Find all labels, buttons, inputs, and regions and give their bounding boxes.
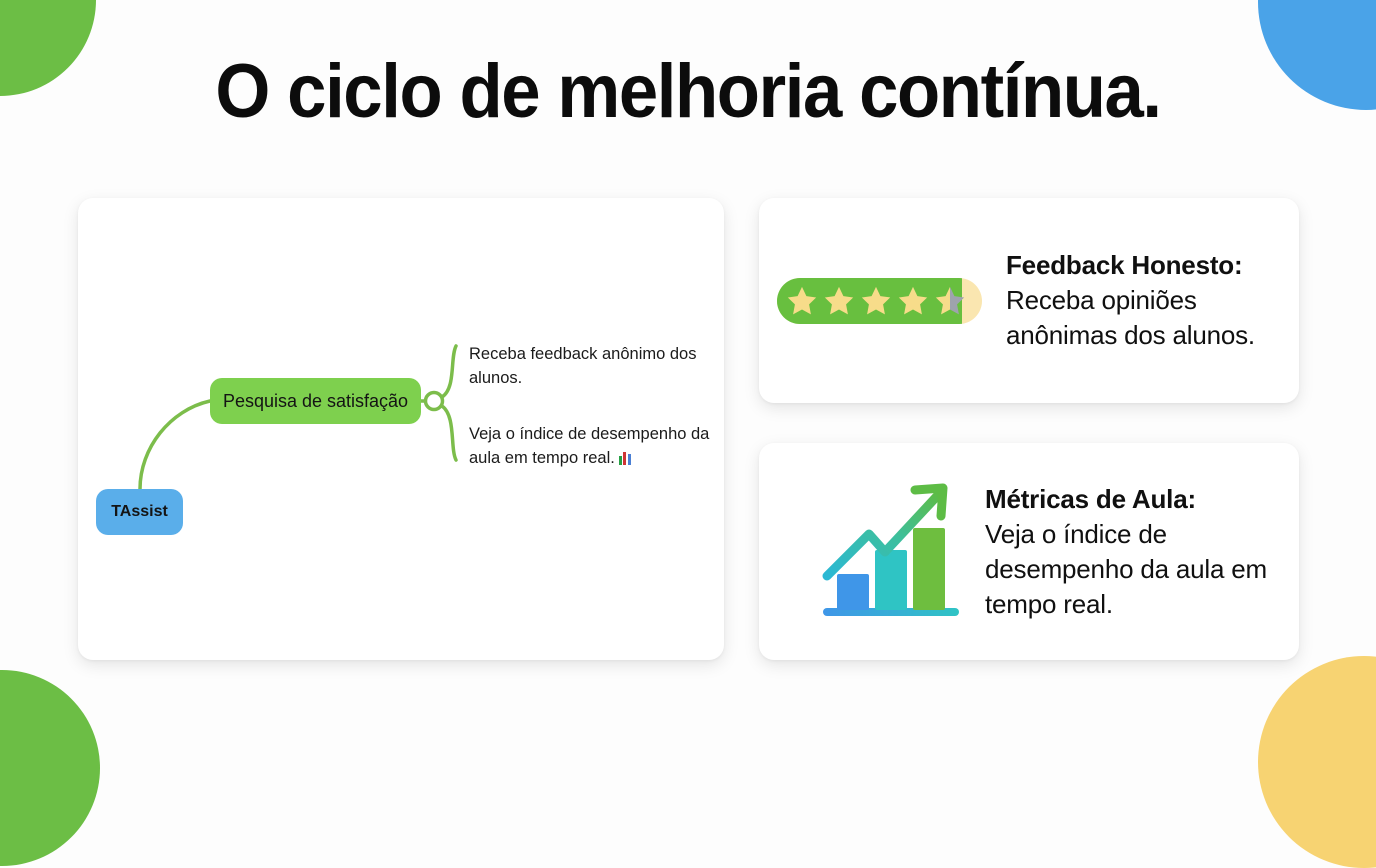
slide-title: O ciclo de melhoria contínua. bbox=[48, 48, 1328, 135]
bottom-right-circle-decoration bbox=[1258, 656, 1376, 868]
metrics-card-lead: Métricas de Aula: bbox=[985, 482, 1299, 517]
mindmap-leaf-text-2-label: Veja o índice de desempenho da aula em t… bbox=[469, 425, 709, 467]
feedback-card-lead: Feedback Honesto: bbox=[1006, 248, 1299, 283]
mindmap-root-node[interactable]: TAssist bbox=[96, 489, 183, 535]
mindmap-leaf-text-2: Veja o índice de desempenho da aula em t… bbox=[469, 422, 724, 470]
bar-chart-icon bbox=[618, 451, 633, 465]
star-row bbox=[777, 278, 982, 324]
feedback-card-text: Feedback Honesto: Receba opiniões anônim… bbox=[1006, 248, 1299, 353]
mindmap-branch-node-label: Pesquisa de satisfação bbox=[223, 391, 408, 412]
feedback-card-body: Receba opiniões anônimas dos alunos. bbox=[1006, 283, 1299, 353]
metrics-card-text: Métricas de Aula: Veja o índice de desem… bbox=[985, 482, 1299, 622]
star-rating-icon bbox=[777, 278, 982, 324]
bar-3 bbox=[913, 528, 945, 610]
bar-1 bbox=[837, 574, 869, 610]
metricas-de-aula-card: Métricas de Aula: Veja o índice de desem… bbox=[759, 443, 1299, 660]
star-icon-2 bbox=[822, 284, 856, 318]
mindmap-root-node-label: TAssist bbox=[111, 503, 168, 521]
metrics-card-body: Veja o índice de desempenho da aula em t… bbox=[985, 517, 1299, 622]
mindmap-branch-node[interactable]: Pesquisa de satisfação bbox=[210, 378, 421, 424]
bar-2 bbox=[875, 550, 907, 610]
star-icon-5-half bbox=[933, 284, 967, 318]
mindmap-card: TAssist Pesquisa de satisfação Receba fe… bbox=[78, 198, 724, 660]
star-icon-1 bbox=[785, 284, 819, 318]
mindmap-leaf-text-1: Receba feedback anônimo dos alunos. bbox=[469, 342, 724, 390]
growth-chart-icon bbox=[811, 472, 971, 632]
star-icon-4 bbox=[896, 284, 930, 318]
bottom-left-circle-decoration bbox=[0, 670, 100, 866]
feedback-honesto-card: Feedback Honesto: Receba opiniões anônim… bbox=[759, 198, 1299, 403]
star-icon-3 bbox=[859, 284, 893, 318]
